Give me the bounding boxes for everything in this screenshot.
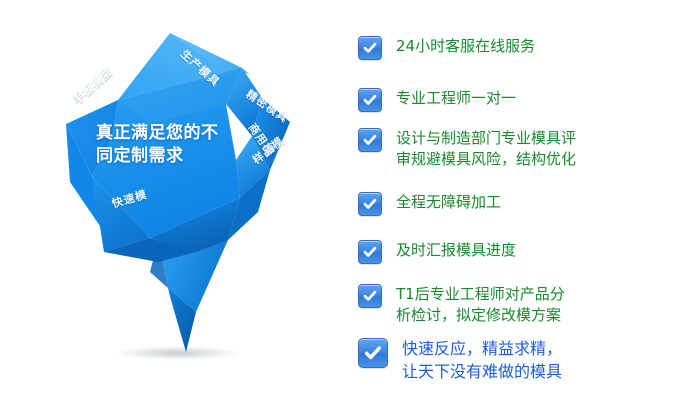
checklist-item-label: 设计与制造部门专业模具评审规避模具风险，结构优化: [396, 128, 576, 171]
check-icon: [358, 36, 382, 60]
polyhedron-graphic: 真正满足您的不 同定制需求 手板模型 生产模具 精密模具 商用模 样品模 快速模: [0, 0, 350, 400]
check-icon: [358, 192, 382, 216]
checklist-item: 快速反应，精益求精，让天下没有难做的模具: [358, 338, 562, 383]
checklist-item-line: 设计与制造部门专业模具评: [396, 128, 576, 149]
check-icon: [358, 88, 382, 112]
checklist-item-line: 24小时客服在线服务: [396, 36, 535, 57]
check-icon: [358, 128, 382, 152]
checklist-item: 24小时客服在线服务: [358, 36, 535, 60]
checklist-item-label: 及时汇报模具进度: [396, 240, 516, 261]
checklist-item-label: 快速反应，精益求精，让天下没有难做的模具: [402, 338, 562, 383]
ground-shadow: [116, 346, 240, 360]
checklist-item-line: 及时汇报模具进度: [396, 240, 516, 261]
promo-banner: 真正满足您的不 同定制需求 手板模型 生产模具 精密模具 商用模 样品模 快速模…: [0, 0, 700, 400]
checklist-item: T1后专业工程师对产品分析检讨，拟定修改模方案: [358, 284, 565, 327]
checklist-item-label: 专业工程师一对一: [396, 88, 516, 109]
checklist-item: 全程无障碍加工: [358, 192, 501, 216]
checklist-item-label: T1后专业工程师对产品分析检讨，拟定修改模方案: [396, 284, 565, 327]
checklist-item-line: 全程无障碍加工: [396, 192, 501, 213]
checklist-item-line: T1后专业工程师对产品分: [396, 284, 565, 305]
checklist-item-line: 析检讨，拟定修改模方案: [396, 305, 565, 326]
checklist-item-line: 让天下没有难做的模具: [402, 361, 562, 384]
checklist-item: 设计与制造部门专业模具评审规避模具风险，结构优化: [358, 128, 576, 171]
check-icon: [358, 284, 382, 308]
checklist-item-line: 专业工程师一对一: [396, 88, 516, 109]
checklist-item: 及时汇报模具进度: [358, 240, 516, 264]
check-icon: [358, 240, 382, 264]
checklist-item: 专业工程师一对一: [358, 88, 516, 112]
checklist-item-label: 全程无障碍加工: [396, 192, 501, 213]
checklist-item-label: 24小时客服在线服务: [396, 36, 535, 57]
feature-checklist: 24小时客服在线服务专业工程师一对一设计与制造部门专业模具评审规避模具风险，结构…: [358, 0, 700, 400]
check-icon: [358, 338, 388, 368]
checklist-item-line: 快速反应，精益求精，: [402, 338, 562, 361]
checklist-item-line: 审规避模具风险，结构优化: [396, 149, 576, 170]
